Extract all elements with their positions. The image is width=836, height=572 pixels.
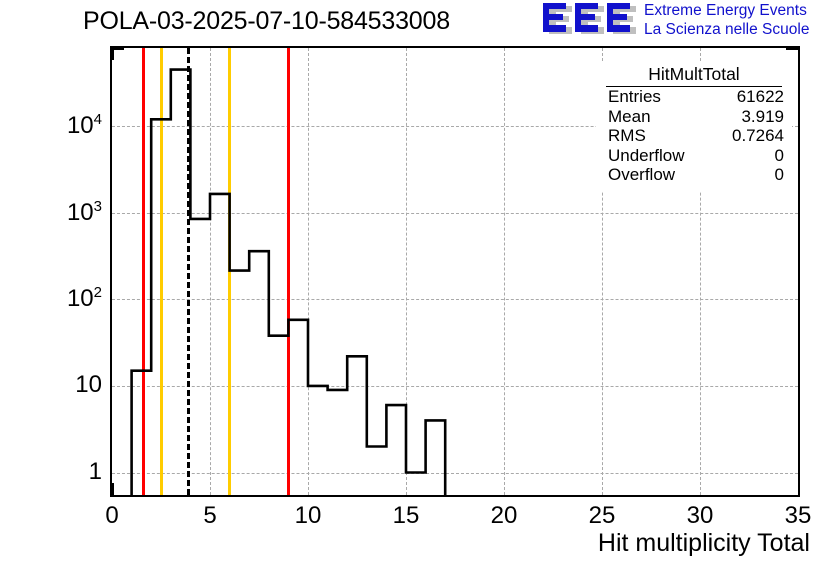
- x-tick-label: 20: [474, 502, 534, 530]
- y-tick-label: 1: [24, 458, 102, 486]
- stats-key: Mean: [608, 107, 651, 127]
- stats-value: 0: [775, 146, 784, 166]
- y-tick-label: 104: [24, 111, 102, 140]
- x-tick-label: 35: [768, 502, 828, 530]
- stats-value: 0: [775, 165, 784, 185]
- stats-title: HitMultTotal: [606, 64, 782, 87]
- stats-row: Overflow0: [596, 165, 792, 185]
- y-tick-label: 10: [24, 371, 102, 399]
- stats-row: Entries61622: [596, 87, 792, 107]
- x-tick-label: 30: [670, 502, 730, 530]
- x-tick-label: 10: [278, 502, 338, 530]
- stats-rows: Entries61622Mean3.919RMS0.7264Underflow0…: [596, 87, 792, 185]
- stats-value: 0.7264: [732, 126, 784, 146]
- stats-value: 61622: [737, 87, 784, 107]
- x-axis-title: Hit multiplicity Total: [598, 529, 810, 558]
- stats-key: Underflow: [608, 146, 685, 166]
- stats-row: Underflow0: [596, 146, 792, 166]
- stats-value: 3.919: [741, 107, 784, 127]
- stats-key: RMS: [608, 126, 646, 146]
- stats-key: Entries: [608, 87, 661, 107]
- stats-row: RMS0.7264: [596, 126, 792, 146]
- x-tick-label: 5: [180, 502, 240, 530]
- stats-row: Mean3.919: [596, 107, 792, 127]
- x-tick-label: 0: [82, 502, 142, 530]
- x-tick-label: 15: [376, 502, 436, 530]
- y-tick-label: 103: [24, 198, 102, 227]
- root-canvas: POLA-03-2025-07-10-584533008: [0, 0, 836, 572]
- y-tick-label: 102: [24, 284, 102, 313]
- x-tick-label: 25: [572, 502, 632, 530]
- stats-box: HitMultTotal Entries61622Mean3.919RMS0.7…: [596, 62, 792, 192]
- stats-key: Overflow: [608, 165, 675, 185]
